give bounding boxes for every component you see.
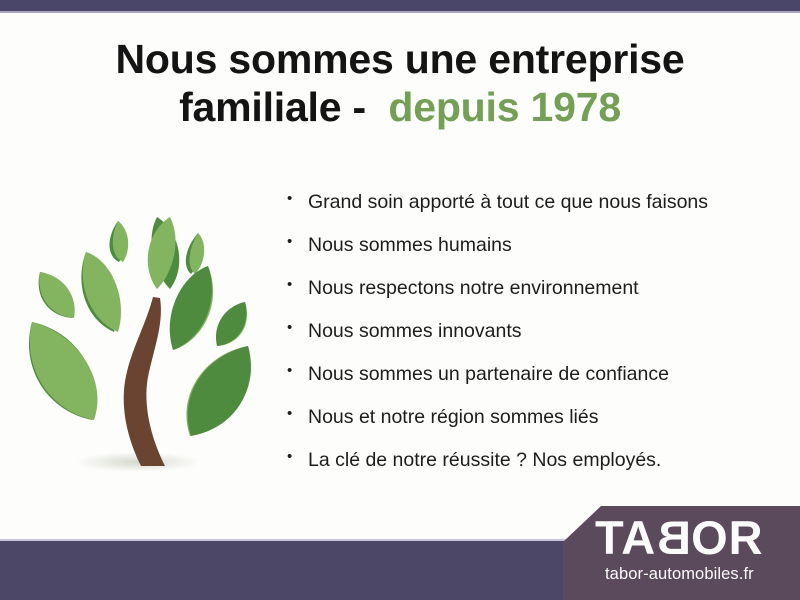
title-line-2-accent: depuis 1978 <box>388 84 621 130</box>
title-line-1: Nous sommes une entreprise <box>60 36 740 84</box>
leaf-upper-small-left <box>109 221 128 262</box>
leaf-top-center <box>148 217 180 289</box>
leaf-far-right <box>216 302 247 346</box>
leaf-mid-left <box>81 252 121 332</box>
logo-website-url: tabor-automobiles.fr <box>605 566 754 583</box>
list-item: Nous sommes humains <box>284 235 774 256</box>
list-item: La clé de notre réussite ? Nos employés. <box>284 450 774 471</box>
slide-canvas: Nous sommes une entreprise familiale - d… <box>0 0 800 600</box>
tree-trunk <box>124 297 165 466</box>
title-line-2-plain: familiale - <box>179 84 366 130</box>
list-item: Nous et notre région sommes liés <box>284 407 774 428</box>
logo-wordmark-part1: TA <box>595 514 656 561</box>
leaf-mid-right <box>170 266 213 350</box>
list-item: Grand soin apporté à tout ce que nous fa… <box>284 192 774 213</box>
logo-wordmark-mirrored-b: B <box>656 514 691 561</box>
leaf-far-left <box>39 272 75 318</box>
tree-illustration <box>14 196 266 488</box>
top-accent-band <box>0 0 800 11</box>
slide-title: Nous sommes une entreprise familiale - d… <box>60 36 740 132</box>
title-line-2: familiale - depuis 1978 <box>60 84 740 132</box>
value-bullet-list: Grand soin apporté à tout ce que nous fa… <box>284 192 774 493</box>
brand-logo-panel: TABOR tabor-automobiles.fr <box>563 506 800 600</box>
logo-wordmark-part2: OR <box>691 514 764 561</box>
leaf-lower-right <box>186 346 251 436</box>
list-item: Nous respectons notre environnement <box>284 278 774 299</box>
logo-lockup: TABOR tabor-automobiles.fr <box>563 506 800 600</box>
list-item: Nous sommes un partenaire de confiance <box>284 364 774 385</box>
leaf-upper-small-right <box>186 233 204 274</box>
logo-wordmark: TABOR <box>595 514 764 561</box>
leaf-lower-left <box>29 322 98 420</box>
list-item: Nous sommes innovants <box>284 321 774 342</box>
top-accent-hairline <box>0 11 800 13</box>
